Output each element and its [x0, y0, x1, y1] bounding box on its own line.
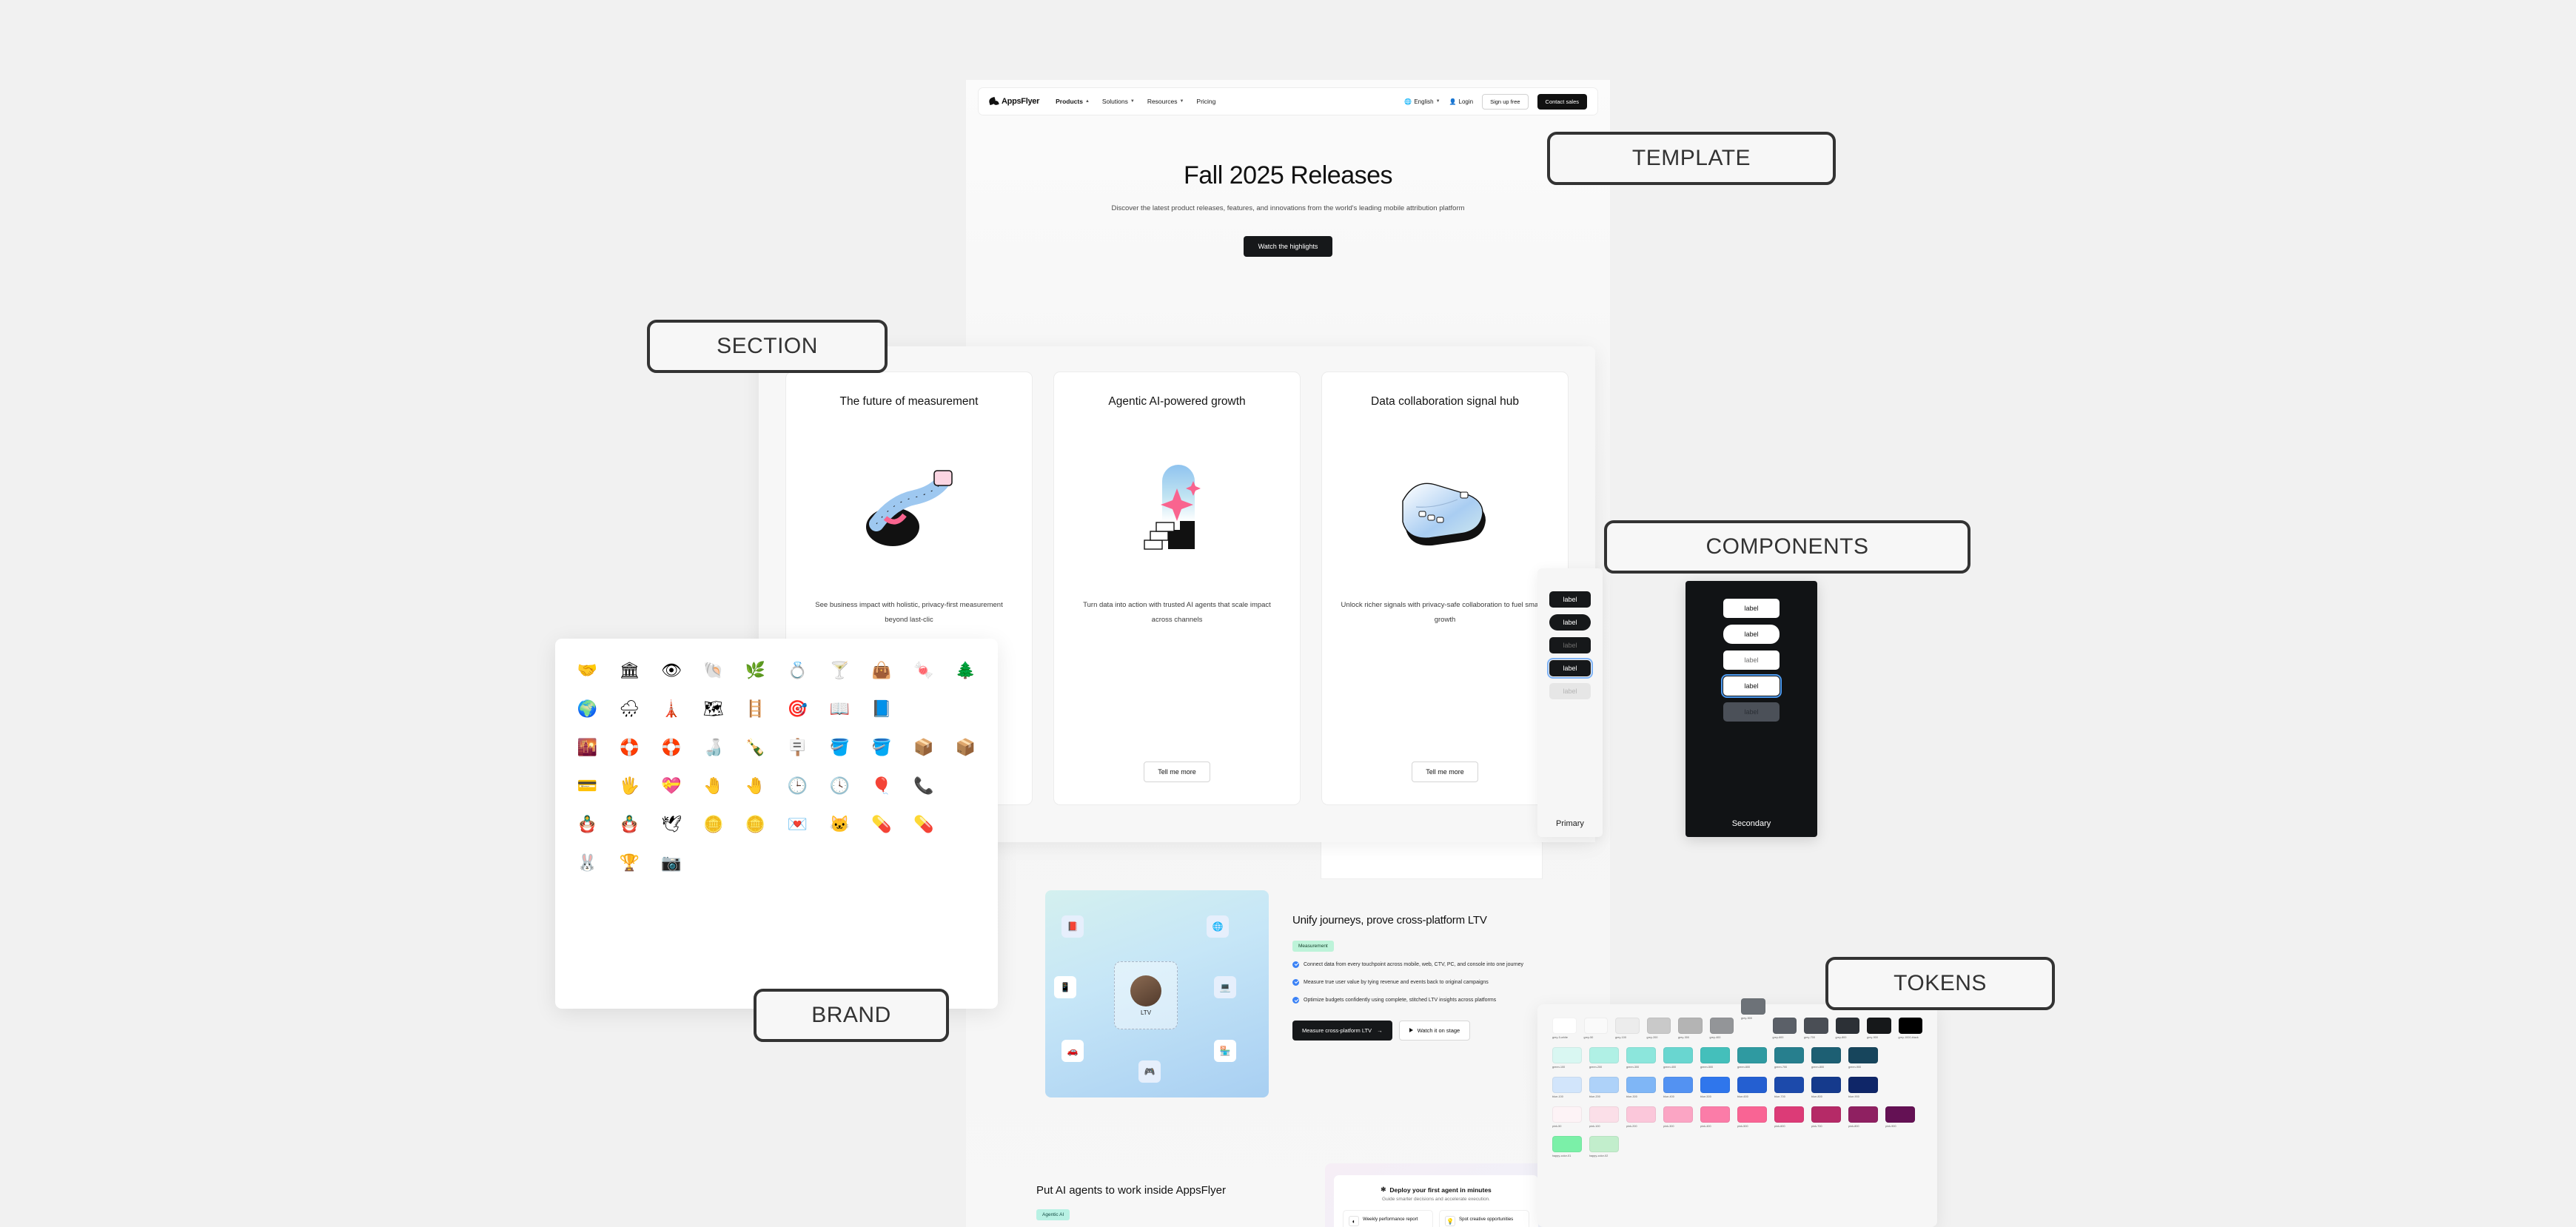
color-swatch[interactable]: pink-900 — [1885, 1106, 1915, 1128]
swatch-color — [1899, 1018, 1923, 1034]
card-title: The future of measurement — [840, 394, 979, 410]
globe-icon: 🌐 — [1207, 915, 1229, 938]
handshake-icon — [1389, 451, 1500, 562]
contact-sales-button[interactable]: Contact sales — [1537, 94, 1587, 110]
color-swatch[interactable]: green-700 — [1774, 1047, 1804, 1069]
swatch-label: blue-500 — [1700, 1095, 1730, 1098]
status-badge: Agentic AI — [1036, 1209, 1070, 1220]
color-swatch[interactable]: blue-800 — [1811, 1077, 1841, 1098]
color-swatch[interactable]: grey-800 — [1836, 1018, 1860, 1039]
swatch-label: grey-300 — [1678, 1036, 1703, 1039]
swatch-label: grey-200 — [1647, 1036, 1671, 1039]
arch-sunrise-icon[interactable]: 🌇 — [568, 732, 606, 763]
envelope-star-icon[interactable]: 💌 — [779, 809, 816, 840]
swatch-color — [1626, 1047, 1656, 1063]
store-icon: 🏪 — [1214, 1040, 1236, 1062]
matryoshka-set-icon[interactable]: 🪆 — [611, 809, 648, 840]
empty-cell — [694, 847, 732, 878]
hero-section: Fall 2025 Releases Discover the latest p… — [966, 161, 1610, 257]
color-swatch[interactable]: pink-300 — [1663, 1106, 1693, 1128]
language-selector[interactable]: 🌐 English ▼ — [1404, 98, 1440, 105]
swatch-label: pink-700 — [1811, 1125, 1841, 1128]
ltv-diagram: 📕 🌐 📱 💻 🚗 🏪 🎮 LTV — [1045, 890, 1269, 1097]
color-swatch[interactable]: blue-600 — [1737, 1077, 1767, 1098]
arrow-right-icon: → — [1377, 1027, 1383, 1034]
color-swatch[interactable]: pink-500 — [1737, 1106, 1767, 1128]
swatch-color — [1589, 1136, 1619, 1152]
gumball-icon[interactable]: 🍬 — [905, 655, 942, 686]
token-row-grey: grey-0-whitegrey-50grey-100grey-200grey-… — [1552, 1018, 1922, 1039]
components-primary-panel: label label label label label Primary — [1537, 568, 1603, 837]
appsflyer-logo-icon: ✻ — [1381, 1186, 1386, 1194]
color-swatch[interactable]: pink-600 — [1774, 1106, 1804, 1128]
ai-agent-tiles: ◐ Weekly performance report See what cha… — [1343, 1210, 1529, 1227]
handshake-heart-icon[interactable]: 💝 — [653, 770, 691, 801]
globe-lamp-icon[interactable]: 🌍 — [568, 693, 606, 725]
appsflyer-logo[interactable]: AppsFlyer — [989, 97, 1039, 106]
color-swatch[interactable]: grey-600 — [1773, 1018, 1797, 1039]
callout-tokens: TOKENS — [1825, 957, 2055, 1010]
lifebuoy-blue-icon[interactable]: 🛟 — [653, 732, 691, 763]
cloud-rain-icon[interactable]: 🌧 — [611, 693, 648, 725]
chevron-down-icon: ▼ — [1130, 99, 1135, 104]
play-icon — [1409, 1028, 1413, 1032]
color-swatch[interactable]: blue-100 — [1552, 1077, 1582, 1098]
swatch-label: grey-600 — [1773, 1036, 1797, 1039]
target-arrow-icon[interactable]: 🎯 — [779, 693, 816, 725]
swatch-color — [1737, 1047, 1767, 1063]
swatch-color — [1811, 1106, 1841, 1123]
swatch-color — [1678, 1018, 1703, 1034]
ai-card-subtitle: Guide smarter decisions and accelerate e… — [1343, 1197, 1529, 1202]
callout-brand: BRAND — [754, 989, 949, 1042]
empty-cell — [905, 847, 942, 878]
swatch-color — [1552, 1077, 1582, 1093]
swatch-label: pink-50 — [1552, 1125, 1582, 1128]
swatch-label: blue-100 — [1552, 1095, 1582, 1098]
ai-agents-card: ✻ Deploy your first agent in minutes Gui… — [1325, 1163, 1547, 1227]
swatch-label: pink-300 — [1663, 1125, 1693, 1128]
balloons-icon[interactable]: 🎈 — [863, 770, 901, 801]
car-icon: 🚗 — [1061, 1040, 1084, 1062]
swatch-label: green-800 — [1811, 1066, 1841, 1069]
swatch-label: grey-500 — [1741, 1017, 1765, 1020]
swatch-label: happy-color-02 — [1589, 1154, 1619, 1157]
callout-template: TEMPLATE — [1547, 132, 1836, 185]
swatch-color — [1700, 1106, 1730, 1123]
agent-tile[interactable]: 💡 Spot creative opportunities Surfaces h… — [1439, 1210, 1529, 1227]
swatch-color — [1774, 1106, 1804, 1123]
ladder-icon[interactable]: 🪜 — [737, 693, 774, 725]
pie-chart-icon: ◐ — [1349, 1216, 1359, 1226]
swatch-label: grey-800 — [1836, 1036, 1860, 1039]
ltv-title: Unify journeys, prove cross-platform LTV — [1292, 912, 1600, 929]
card-body: See business impact with holistic, priva… — [804, 598, 1014, 628]
swatch-label: pink-200 — [1626, 1125, 1656, 1128]
cocktail-icon[interactable]: 🍸 — [821, 655, 859, 686]
swatch-label: grey-0-white — [1552, 1036, 1577, 1039]
hand-mountain-icon[interactable]: 🤚 — [694, 770, 732, 801]
color-tokens-panel: grey-0-whitegrey-50grey-100grey-200grey-… — [1537, 1004, 1937, 1227]
rabbit-icon[interactable]: 🐰 — [568, 847, 606, 878]
bucket-icon[interactable]: 🪣 — [821, 732, 859, 763]
forest-icon[interactable]: 🌲 — [947, 655, 985, 686]
journey-map-icon[interactable]: 🗺 — [694, 693, 732, 725]
agent-tile[interactable]: ◐ Weekly performance report See what cha… — [1343, 1210, 1433, 1227]
swatch-color — [1774, 1047, 1804, 1063]
capsule-icon[interactable]: 💊 — [863, 809, 901, 840]
primary-button-focus[interactable]: label — [1549, 660, 1591, 676]
swatch-label: grey-700 — [1804, 1036, 1828, 1039]
color-swatch[interactable]: grey-900 — [1867, 1018, 1891, 1039]
dove-icon[interactable]: 🕊 — [653, 809, 691, 840]
bottles-icon[interactable]: 🍶 — [694, 732, 732, 763]
clock-pie-2-icon[interactable]: 🕓 — [821, 770, 859, 801]
color-swatch[interactable]: green-600 — [1737, 1047, 1767, 1069]
monitor-icon: 💻 — [1214, 976, 1236, 998]
lifebuoy-icon[interactable]: 🛟 — [611, 732, 648, 763]
book-icon: 📕 — [1061, 915, 1084, 938]
token-row-happy-color: happy-color-01happy-color-02 — [1552, 1136, 1922, 1157]
swatch-label: green-100 — [1552, 1066, 1582, 1069]
primary-button-muted[interactable]: label — [1549, 637, 1591, 653]
bucket-dark-icon[interactable]: 🪣 — [863, 732, 901, 763]
swatch-color — [1552, 1018, 1577, 1034]
brand-icon-grid: 🤝🏛👁🐚🌿💍🍸👜🍬🌲🌍🌧🗼🗺🪜🎯📖📘🌇🛟🛟🍶🍾🪧🪣🪣📦📦💳🖐💝🤚🤚🕒🕓🎈📞🪆🪆🕊… — [568, 655, 985, 878]
plant-flask-icon[interactable]: 🌿 — [737, 655, 774, 686]
check-icon — [1292, 997, 1299, 1004]
tell-me-more-button[interactable]: Tell me more — [1144, 762, 1210, 782]
primary-button-rounded[interactable]: label — [1549, 614, 1591, 631]
swatch-label: pink-900 — [1885, 1125, 1915, 1128]
ltv-label: LTV — [1141, 1009, 1151, 1016]
color-swatch[interactable]: green-800 — [1811, 1047, 1841, 1069]
empty-cell — [905, 693, 942, 725]
swatch-color — [1885, 1106, 1915, 1123]
color-swatch[interactable]: pink-100 — [1589, 1106, 1619, 1128]
camera-icon[interactable]: 📷 — [653, 847, 691, 878]
ltv-section: 📕 🌐 📱 💻 🚗 🏪 🎮 LTV Unify journeys, prove … — [1045, 890, 1600, 1105]
empty-cell — [737, 847, 774, 878]
primary-caption: Primary — [1556, 819, 1584, 828]
bottles-dark-icon[interactable]: 🍾 — [737, 732, 774, 763]
color-swatch[interactable]: green-400 — [1663, 1047, 1693, 1069]
page-title: Fall 2025 Releases — [966, 161, 1610, 190]
swatch-label: green-200 — [1589, 1066, 1619, 1069]
color-swatch[interactable]: pink-400 — [1700, 1106, 1730, 1128]
color-swatch[interactable]: blue-400 — [1663, 1077, 1693, 1098]
callout-section: SECTION — [647, 320, 888, 373]
signpost-icon[interactable]: 🪧 — [779, 732, 816, 763]
empty-cell — [947, 847, 985, 878]
color-swatch[interactable]: pink-700 — [1811, 1106, 1841, 1128]
swatch-label: blue-800 — [1811, 1095, 1841, 1098]
swatch-color — [1663, 1077, 1693, 1093]
secondary-caption: Secondary — [1732, 819, 1771, 828]
swatch-label: happy-color-01 — [1552, 1154, 1582, 1157]
ltv-center-node: LTV — [1114, 961, 1178, 1029]
signup-free-button[interactable]: Sign up free — [1482, 94, 1528, 110]
capsule-2-icon[interactable]: 💊 — [905, 809, 942, 840]
swatch-label: green-900 — [1848, 1066, 1878, 1069]
tell-me-more-button[interactable]: Tell me more — [1412, 762, 1478, 782]
color-swatch[interactable]: pink-50 — [1552, 1106, 1582, 1128]
swatch-color — [1589, 1077, 1619, 1093]
primary-button-default[interactable]: label — [1549, 591, 1591, 608]
swatch-label: blue-300 — [1626, 1095, 1656, 1098]
swatch-label: blue-700 — [1774, 1095, 1804, 1098]
empty-cell — [947, 809, 985, 840]
nav-item-resources[interactable]: Resources ▼ — [1147, 98, 1184, 105]
color-swatch[interactable]: blue-700 — [1774, 1077, 1804, 1098]
card-title: Data collaboration signal hub — [1371, 394, 1519, 410]
swatch-color — [1589, 1047, 1619, 1063]
swatch-color — [1804, 1018, 1828, 1034]
box-plants-icon[interactable]: 📦 — [905, 732, 942, 763]
swatch-color — [1867, 1018, 1891, 1034]
towers-icon[interactable]: 🗼 — [653, 693, 691, 725]
primary-button-disabled: label — [1549, 683, 1591, 699]
measuring-tape-icon — [853, 451, 965, 562]
swatch-label: grey-100 — [1615, 1036, 1640, 1039]
card-body: Turn data into action with trusted AI ag… — [1072, 598, 1282, 628]
callout-components: COMPONENTS — [1604, 520, 1970, 574]
swatch-label: pink-100 — [1589, 1125, 1619, 1128]
nav-item-products[interactable]: Products ▲ — [1056, 98, 1090, 105]
swatch-label: grey-50 — [1584, 1036, 1609, 1039]
swatch-color — [1647, 1018, 1671, 1034]
eye-icon[interactable]: 👁 — [653, 655, 691, 686]
chevron-down-icon: ▼ — [1179, 99, 1184, 104]
feature-card[interactable]: Data collaboration signal hub — [1321, 372, 1569, 805]
swatch-label: pink-400 — [1700, 1125, 1730, 1128]
color-swatch[interactable]: green-500 — [1700, 1047, 1730, 1069]
ai-agents-card-inner: ✻ Deploy your first agent in minutes Gui… — [1334, 1175, 1538, 1227]
hand-mountain-2-icon[interactable]: 🤚 — [737, 770, 774, 801]
card-swipe-icon[interactable]: 💳 — [568, 770, 606, 801]
chevron-down-icon: ▼ — [1436, 99, 1440, 104]
ai-agents-copy: Put AI agents to work inside AppsFlyer A… — [1036, 1163, 1281, 1227]
site-navbar: AppsFlyer Products ▲ Solutions ▼ Resourc… — [978, 87, 1598, 115]
secondary-button-disabled: label — [1723, 702, 1780, 722]
color-swatch[interactable]: happy-color-02 — [1589, 1136, 1619, 1157]
swatch-color — [1663, 1106, 1693, 1123]
card-title: Agentic AI-powered growth — [1108, 394, 1245, 410]
components-secondary-panel: label label label label label Secondary — [1686, 581, 1817, 837]
swatch-label: grey-1000-black — [1899, 1036, 1923, 1039]
check-icon — [1292, 979, 1299, 986]
nav-actions: 🌐 English ▼ 👤 Login Sign up free Contact… — [1404, 94, 1587, 110]
chevron-up-icon: ▲ — [1085, 99, 1090, 104]
check-icon — [1292, 961, 1299, 968]
empty-cell — [779, 847, 816, 878]
open-book-icon[interactable]: 📖 — [821, 693, 859, 725]
color-swatch[interactable]: grey-500 — [1741, 998, 1765, 1020]
seashell-icon[interactable]: 🐚 — [694, 655, 732, 686]
color-swatch[interactable]: grey-400 — [1710, 1018, 1734, 1039]
ai-agents-section: Put AI agents to work inside AppsFlyer A… — [1036, 1163, 1599, 1227]
avatar — [1130, 975, 1161, 1006]
feature-card[interactable]: Agentic AI-powered growth — [1053, 372, 1301, 805]
canvas: AppsFlyer Products ▲ Solutions ▼ Resourc… — [0, 0, 2576, 1227]
color-swatch[interactable]: green-200 — [1589, 1047, 1619, 1069]
swatch-label: blue-900 — [1848, 1095, 1878, 1098]
swatch-color — [1552, 1047, 1582, 1063]
swatch-label: blue-600 — [1737, 1095, 1767, 1098]
color-swatch[interactable]: blue-500 — [1700, 1077, 1730, 1098]
podium-icon[interactable]: 🏆 — [611, 847, 648, 878]
swatch-color — [1773, 1018, 1797, 1034]
measure-ltv-button[interactable]: Measure cross-platform LTV → — [1292, 1021, 1392, 1041]
user-icon: 👤 — [1449, 98, 1457, 105]
archway-stairs-icon[interactable]: 🏛 — [611, 655, 648, 686]
swatch-color — [1741, 998, 1765, 1015]
handshake-icon[interactable]: 🤝 — [568, 655, 606, 686]
swatch-color — [1836, 1018, 1860, 1034]
nav-links: Products ▲ Solutions ▼ Resources ▼ Prici… — [1056, 98, 1215, 105]
color-swatch[interactable]: grey-1000-black — [1899, 1018, 1923, 1039]
swatch-color — [1700, 1047, 1730, 1063]
swatch-color — [1626, 1077, 1656, 1093]
swatch-color — [1737, 1077, 1767, 1093]
token-rows: grey-0-whitegrey-50grey-100grey-200grey-… — [1552, 1018, 1922, 1157]
phone-icon: 📱 — [1054, 976, 1076, 998]
swatch-color — [1615, 1018, 1640, 1034]
swatch-color — [1626, 1106, 1656, 1123]
token-row-green: green-100green-200green-300green-400gree… — [1552, 1047, 1922, 1069]
box-plants-2-icon[interactable]: 📦 — [947, 732, 985, 763]
color-swatch[interactable]: pink-800 — [1848, 1106, 1878, 1128]
login-link[interactable]: 👤 Login — [1449, 98, 1474, 105]
coins-stack-icon[interactable]: 🪙 — [694, 809, 732, 840]
color-swatch[interactable]: grey-50 — [1584, 1018, 1609, 1039]
secondary-button-focus[interactable]: label — [1723, 676, 1780, 696]
secondary-button-rounded[interactable]: label — [1723, 625, 1780, 644]
swatch-color — [1811, 1047, 1841, 1063]
swatch-color — [1848, 1047, 1878, 1063]
matryoshka-icon[interactable]: 🪆 — [568, 809, 606, 840]
empty-cell — [863, 847, 901, 878]
hand-sparkle-icon[interactable]: 🖐 — [611, 770, 648, 801]
nav-item-solutions[interactable]: Solutions ▼ — [1102, 98, 1135, 105]
swatch-color — [1552, 1136, 1582, 1152]
swatch-color — [1584, 1018, 1609, 1034]
stairs-sparkle-icon — [1121, 451, 1232, 562]
swatch-label: green-500 — [1700, 1066, 1730, 1069]
coins-stack-2-icon[interactable]: 🪙 — [737, 809, 774, 840]
swatch-color — [1848, 1077, 1878, 1093]
logo-text: AppsFlyer — [1002, 97, 1039, 106]
ai-card-title: ✻ Deploy your first agent in minutes — [1343, 1186, 1529, 1194]
status-badge: Measurement — [1292, 941, 1334, 952]
color-swatch[interactable]: blue-200 — [1589, 1077, 1619, 1098]
nav-item-pricing[interactable]: Pricing — [1196, 98, 1215, 105]
swatch-label: green-700 — [1774, 1066, 1804, 1069]
color-swatch[interactable]: blue-300 — [1626, 1077, 1656, 1098]
swatch-label: grey-400 — [1710, 1036, 1734, 1039]
ring-icon[interactable]: 💍 — [779, 655, 816, 686]
swatch-label: pink-800 — [1848, 1125, 1878, 1128]
swatch-color — [1737, 1106, 1767, 1123]
cat-books-icon[interactable]: 🐱 — [821, 809, 859, 840]
swatch-label: grey-900 — [1867, 1036, 1891, 1039]
swatch-color — [1710, 1018, 1734, 1034]
swatch-color — [1663, 1047, 1693, 1063]
bullet-item: Connect data from every touchpoint acros… — [1292, 961, 1600, 969]
gamepad-icon: 🎮 — [1138, 1060, 1161, 1083]
watch-highlights-button[interactable]: Watch the highlights — [1244, 236, 1333, 257]
brand-icon-library-panel: 🤝🏛👁🐚🌿💍🍸👜🍬🌲🌍🌧🗼🗺🪜🎯📖📘🌇🛟🛟🍶🍾🪧🪣🪣📦📦💳🖐💝🤚🤚🕒🕓🎈📞🪆🪆🕊… — [555, 639, 998, 1009]
color-swatch[interactable]: grey-300 — [1678, 1018, 1703, 1039]
color-swatch[interactable]: green-300 — [1626, 1047, 1656, 1069]
swatch-color — [1552, 1106, 1582, 1123]
swatch-color — [1811, 1077, 1841, 1093]
swatch-label: pink-500 — [1737, 1125, 1767, 1128]
secondary-button-default[interactable]: label — [1723, 599, 1780, 618]
color-swatch[interactable]: pink-200 — [1626, 1106, 1656, 1128]
swatch-label: green-400 — [1663, 1066, 1693, 1069]
watch-on-stage-button[interactable]: Watch it on stage — [1399, 1021, 1471, 1041]
hero-subtitle: Discover the latest product releases, fe… — [966, 202, 1610, 215]
color-swatch[interactable]: grey-700 — [1804, 1018, 1828, 1039]
swatch-label: blue-400 — [1663, 1095, 1693, 1098]
swatch-color — [1774, 1077, 1804, 1093]
swatch-label: green-600 — [1737, 1066, 1767, 1069]
color-swatch[interactable]: grey-0-white — [1552, 1018, 1577, 1039]
swatch-label: pink-600 — [1774, 1125, 1804, 1128]
empty-cell — [947, 693, 985, 725]
secondary-button-muted[interactable]: label — [1723, 651, 1780, 670]
globe-icon: 🌐 — [1404, 98, 1412, 105]
swatch-color — [1589, 1106, 1619, 1123]
swatch-label: green-300 — [1626, 1066, 1656, 1069]
card-body: Unlock richer signals with privacy-safe … — [1340, 598, 1550, 628]
swatch-color — [1700, 1077, 1730, 1093]
token-row-pink: pink-50pink-100pink-200pink-300pink-400p… — [1552, 1106, 1922, 1128]
bullet-item: Measure true user value by tying revenue… — [1292, 978, 1600, 987]
ai-agents-title: Put AI agents to work inside AppsFlyer — [1036, 1183, 1281, 1199]
color-swatch[interactable]: green-900 — [1848, 1047, 1878, 1069]
swatch-color — [1848, 1106, 1878, 1123]
appsflyer-logo-icon — [989, 97, 999, 106]
color-swatch[interactable]: blue-900 — [1848, 1077, 1878, 1098]
open-book-blue-icon[interactable]: 📘 — [863, 693, 901, 725]
empty-cell — [821, 847, 859, 878]
empty-cell — [947, 770, 985, 801]
tote-bag-icon[interactable]: 👜 — [863, 655, 901, 686]
color-swatch[interactable]: happy-color-01 — [1552, 1136, 1582, 1157]
clock-pie-icon[interactable]: 🕒 — [779, 770, 816, 801]
phone-spiral-icon[interactable]: 📞 — [905, 770, 942, 801]
bulb-icon: 💡 — [1445, 1216, 1455, 1226]
swatch-label: blue-200 — [1589, 1095, 1619, 1098]
color-swatch[interactable]: grey-200 — [1647, 1018, 1671, 1039]
color-swatch[interactable]: grey-100 — [1615, 1018, 1640, 1039]
token-row-blue: blue-100blue-200blue-300blue-400blue-500… — [1552, 1077, 1922, 1098]
color-swatch[interactable]: green-100 — [1552, 1047, 1582, 1069]
